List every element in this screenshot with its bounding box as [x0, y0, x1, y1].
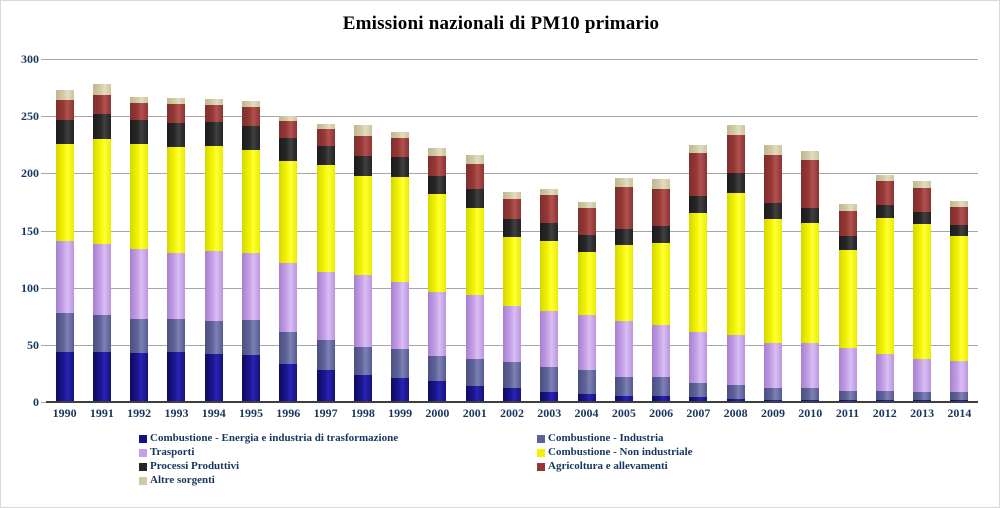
bar-segment[interactable] [56, 313, 74, 352]
bar-segment[interactable] [578, 252, 596, 315]
bar-slot-1999 [382, 59, 419, 402]
bar-segment[interactable] [466, 386, 484, 402]
bar-segment[interactable] [466, 189, 484, 207]
legend-swatch-icon [139, 477, 147, 485]
bar-slot-1993 [158, 59, 195, 402]
bar-slot-2008 [717, 59, 754, 402]
bar-segment[interactable] [689, 332, 707, 382]
bar-segment[interactable] [913, 392, 931, 400]
bar-segment[interactable] [727, 335, 745, 385]
x-tick-label-2002: 2002 [493, 406, 530, 421]
x-tick-label-1991: 1991 [83, 406, 120, 421]
bar-segment[interactable] [317, 146, 335, 165]
bar-segment[interactable] [652, 189, 670, 226]
bar-segment[interactable] [615, 245, 633, 320]
bar-segment[interactable] [839, 250, 857, 348]
bar-2003[interactable] [540, 189, 558, 402]
bar-segment[interactable] [950, 361, 968, 392]
legend-item[interactable]: Altre sorgenti [139, 475, 215, 486]
bar-segment[interactable] [689, 213, 707, 332]
bar-slot-2009 [754, 59, 791, 402]
bar-segment[interactable] [354, 347, 372, 374]
bar-segment[interactable] [279, 364, 297, 402]
bar-segment[interactable] [56, 90, 74, 100]
x-tick-label-2011: 2011 [829, 406, 866, 421]
bar-segment[interactable] [839, 348, 857, 390]
bar-segment[interactable] [56, 120, 74, 144]
bar-segment[interactable] [242, 320, 260, 355]
bar-segment[interactable] [801, 343, 819, 389]
bar-segment[interactable] [56, 100, 74, 119]
x-tick-label-1996: 1996 [270, 406, 307, 421]
bar-2002[interactable] [503, 192, 521, 402]
bar-segment[interactable] [167, 123, 185, 147]
bar-1993[interactable] [167, 98, 185, 402]
bar-segment[interactable] [130, 103, 148, 120]
x-tick-label-2009: 2009 [754, 406, 791, 421]
bar-segment[interactable] [93, 114, 111, 139]
x-tick-label-1990: 1990 [46, 406, 83, 421]
bar-segment[interactable] [764, 203, 782, 219]
bar-segment[interactable] [466, 155, 484, 164]
bar-segment[interactable] [205, 105, 223, 122]
x-tick-label-2004: 2004 [568, 406, 605, 421]
bar-segment[interactable] [503, 362, 521, 388]
bar-segment[interactable] [466, 295, 484, 359]
bar-slot-2006 [642, 59, 679, 402]
bar-segment[interactable] [279, 121, 297, 138]
bar-segment[interactable] [839, 236, 857, 250]
bar-slot-1997 [307, 59, 344, 402]
y-tick-label-200: 200 [5, 166, 39, 181]
x-tick-label-1999: 1999 [382, 406, 419, 421]
legend-item[interactable]: Combustione - Non industriale [537, 447, 693, 458]
bar-segment[interactable] [466, 164, 484, 189]
bar-segment[interactable] [764, 145, 782, 155]
bar-segment[interactable] [876, 218, 894, 354]
bar-slot-2005 [605, 59, 642, 402]
bar-segment[interactable] [801, 208, 819, 223]
bar-segment[interactable] [130, 144, 148, 249]
bar-segment[interactable] [428, 148, 446, 156]
bar-segment[interactable] [93, 352, 111, 402]
legend-swatch-icon [139, 463, 147, 471]
legend-label: Combustione - Energia e industria di tra… [150, 433, 398, 444]
bar-slot-2007 [680, 59, 717, 402]
x-tick-label-1997: 1997 [307, 406, 344, 421]
bar-1995[interactable] [242, 101, 260, 402]
bar-2008[interactable] [727, 125, 745, 402]
bar-segment[interactable] [391, 138, 409, 157]
bar-slot-2001 [456, 59, 493, 402]
bar-segment[interactable] [317, 370, 335, 402]
bar-segment[interactable] [391, 349, 409, 378]
bar-segment[interactable] [615, 187, 633, 229]
bar-slot-1998 [344, 59, 381, 402]
bar-segment[interactable] [503, 192, 521, 199]
bar-slot-2004 [568, 59, 605, 402]
bar-segment[interactable] [354, 275, 372, 347]
bar-segment[interactable] [615, 229, 633, 245]
bar-segment[interactable] [167, 352, 185, 402]
bar-segment[interactable] [578, 315, 596, 370]
bar-segment[interactable] [913, 212, 931, 223]
bar-segment[interactable] [950, 225, 968, 236]
bar-segment[interactable] [391, 177, 409, 282]
legend-label: Combustione - Non industriale [548, 447, 693, 458]
bar-segment[interactable] [578, 235, 596, 252]
bar-segment[interactable] [503, 219, 521, 237]
x-tick-label-2005: 2005 [605, 406, 642, 421]
bar-2010[interactable] [801, 151, 819, 402]
bar-segment[interactable] [652, 179, 670, 189]
bar-segment[interactable] [205, 251, 223, 321]
legend-item[interactable]: Agricoltura e allevamenti [537, 461, 668, 472]
bar-segment[interactable] [242, 150, 260, 253]
bar-segment[interactable] [839, 391, 857, 400]
y-tick-label-300: 300 [5, 52, 39, 67]
bar-segment[interactable] [876, 354, 894, 391]
legend-label: Processi Produttivi [150, 461, 239, 472]
bar-segment[interactable] [652, 226, 670, 243]
x-tick-label-2012: 2012 [866, 406, 903, 421]
y-tick-label-50: 50 [5, 338, 39, 353]
bar-segment[interactable] [130, 120, 148, 144]
bar-segment[interactable] [540, 367, 558, 392]
bar-segment[interactable] [354, 375, 372, 402]
x-tick-label-2013: 2013 [903, 406, 940, 421]
legend-label: Altre sorgenti [150, 475, 215, 486]
bar-1994[interactable] [205, 99, 223, 402]
bar-slot-2013 [903, 59, 940, 402]
bar-2004[interactable] [578, 202, 596, 402]
bar-segment[interactable] [279, 332, 297, 364]
bar-segment[interactable] [876, 181, 894, 205]
bar-segment[interactable] [727, 135, 745, 174]
legend-label: Trasporti [150, 447, 194, 458]
bar-segment[interactable] [167, 147, 185, 253]
bar-segment[interactable] [652, 377, 670, 396]
y-tick-label-0: 0 [5, 395, 39, 410]
bar-segment[interactable] [503, 199, 521, 220]
bar-segment[interactable] [317, 272, 335, 341]
bar-segment[interactable] [615, 321, 633, 377]
x-tick-label-2006: 2006 [642, 406, 679, 421]
bar-segment[interactable] [242, 107, 260, 126]
bar-2006[interactable] [652, 179, 670, 402]
x-tick-label-1995: 1995 [232, 406, 269, 421]
bar-segment[interactable] [205, 321, 223, 354]
bar-segment[interactable] [950, 236, 968, 361]
bar-slot-1995 [232, 59, 269, 402]
bar-segment[interactable] [428, 292, 446, 356]
bar-segment[interactable] [205, 146, 223, 251]
bar-segment[interactable] [801, 223, 819, 343]
bar-segment[interactable] [540, 223, 558, 241]
plot-area [46, 59, 978, 402]
y-tick-label-150: 150 [5, 224, 39, 239]
bar-segment[interactable] [727, 173, 745, 192]
bar-segment[interactable] [801, 160, 819, 208]
chart-title: Emissioni nazionali di PM10 primario [1, 13, 1000, 35]
bar-segment[interactable] [727, 385, 745, 399]
bar-segment[interactable] [317, 340, 335, 370]
x-tick-label-2010: 2010 [792, 406, 829, 421]
bar-slot-1992 [121, 59, 158, 402]
bar-segment[interactable] [652, 243, 670, 325]
bar-segment[interactable] [764, 219, 782, 342]
bar-segment[interactable] [93, 139, 111, 244]
bar-2001[interactable] [466, 155, 484, 402]
chart-legend: Combustione - Energia e industria di tra… [139, 433, 839, 491]
bar-2007[interactable] [689, 145, 707, 402]
x-tick-label-1993: 1993 [158, 406, 195, 421]
bar-2000[interactable] [428, 148, 446, 402]
bar-segment[interactable] [354, 156, 372, 175]
bar-segment[interactable] [503, 388, 521, 402]
bar-slot-1990 [46, 59, 83, 402]
bar-segment[interactable] [130, 319, 148, 353]
bar-segment[interactable] [428, 381, 446, 402]
legend-swatch-icon [139, 449, 147, 457]
bar-1999[interactable] [391, 132, 409, 402]
bar-segment[interactable] [689, 153, 707, 196]
x-tick-label-2003: 2003 [531, 406, 568, 421]
x-tick-label-2007: 2007 [680, 406, 717, 421]
x-tick-label-2000: 2000 [419, 406, 456, 421]
bar-segment[interactable] [391, 157, 409, 176]
bar-segment[interactable] [279, 161, 297, 263]
bar-segment[interactable] [689, 145, 707, 153]
bar-segment[interactable] [540, 195, 558, 222]
bar-segment[interactable] [56, 352, 74, 402]
x-tick-label-1992: 1992 [121, 406, 158, 421]
bar-segment[interactable] [801, 151, 819, 160]
bar-2011[interactable] [839, 204, 857, 402]
bar-slot-1996 [270, 59, 307, 402]
legend-swatch-icon [537, 449, 545, 457]
x-tick-label-1998: 1998 [344, 406, 381, 421]
bar-segment[interactable] [950, 392, 968, 400]
bar-1998[interactable] [354, 125, 372, 402]
bar-segment[interactable] [428, 176, 446, 194]
bar-segment[interactable] [764, 343, 782, 389]
bar-2005[interactable] [615, 178, 633, 402]
legend-swatch-icon [537, 463, 545, 471]
x-tick-label-2001: 2001 [456, 406, 493, 421]
bar-segment[interactable] [913, 188, 931, 212]
bar-segment[interactable] [578, 370, 596, 394]
bar-segment[interactable] [876, 391, 894, 400]
legend-swatch-icon [139, 435, 147, 443]
bar-segment[interactable] [205, 122, 223, 146]
bar-segment[interactable] [428, 156, 446, 175]
bar-segment[interactable] [689, 196, 707, 213]
bar-segment[interactable] [764, 388, 782, 399]
bar-slot-2002 [493, 59, 530, 402]
bar-segment[interactable] [167, 104, 185, 123]
bar-segment[interactable] [130, 353, 148, 402]
x-tick-label-1994: 1994 [195, 406, 232, 421]
bar-segment[interactable] [578, 208, 596, 235]
bar-segment[interactable] [503, 237, 521, 306]
bar-segment[interactable] [801, 388, 819, 399]
bar-segment[interactable] [56, 144, 74, 241]
bar-segment[interactable] [876, 175, 894, 182]
bar-slot-2012 [866, 59, 903, 402]
bar-segment[interactable] [56, 241, 74, 313]
bar-segment[interactable] [913, 181, 931, 188]
legend-item[interactable]: Processi Produttivi [139, 461, 239, 472]
bar-segment[interactable] [279, 263, 297, 333]
bar-segment[interactable] [428, 194, 446, 292]
legend-item[interactable]: Trasporti [139, 447, 194, 458]
bar-segment[interactable] [130, 249, 148, 319]
bar-slot-1991 [83, 59, 120, 402]
bar-segment[interactable] [428, 356, 446, 381]
bar-segment[interactable] [167, 319, 185, 352]
bar-segment[interactable] [279, 138, 297, 161]
bar-slot-2014 [941, 59, 978, 402]
bar-segment[interactable] [540, 311, 558, 367]
bar-segment[interactable] [354, 136, 372, 157]
y-tick-label-100: 100 [5, 281, 39, 296]
bar-slot-2011 [829, 59, 866, 402]
bar-segment[interactable] [615, 178, 633, 187]
bar-segment[interactable] [839, 204, 857, 211]
y-tick-label-250: 250 [5, 109, 39, 124]
bar-segment[interactable] [466, 208, 484, 295]
bar-1992[interactable] [130, 97, 148, 402]
bar-segment[interactable] [764, 155, 782, 203]
bar-segment[interactable] [950, 207, 968, 225]
bar-segment[interactable] [93, 244, 111, 315]
x-axis-tick-labels: 1990199119921993199419951996199719981999… [46, 402, 978, 424]
bar-segment[interactable] [167, 253, 185, 318]
bar-1990[interactable] [56, 90, 74, 402]
legend-swatch-icon [537, 435, 545, 443]
bar-slot-2000 [419, 59, 456, 402]
bar-segment[interactable] [317, 129, 335, 146]
bar-segment[interactable] [242, 355, 260, 402]
bar-segment[interactable] [354, 176, 372, 275]
bar-segment[interactable] [540, 241, 558, 311]
bar-segment[interactable] [93, 95, 111, 114]
bar-segment[interactable] [391, 378, 409, 402]
bar-2014[interactable] [950, 201, 968, 402]
bar-1991[interactable] [93, 84, 111, 402]
bar-segment[interactable] [242, 126, 260, 150]
bar-segment[interactable] [503, 306, 521, 362]
x-tick-label-2014: 2014 [941, 406, 978, 421]
bar-segment[interactable] [839, 211, 857, 236]
legend-label: Agricoltura e allevamenti [548, 461, 668, 472]
bar-segment[interactable] [205, 354, 223, 402]
bar-segment[interactable] [727, 193, 745, 335]
bar-segment[interactable] [913, 359, 931, 392]
bar-segment[interactable] [466, 359, 484, 386]
chart-container: Emissioni nazionali di PM10 primario 050… [0, 0, 1000, 508]
bar-segment[interactable] [93, 84, 111, 94]
bar-segment[interactable] [689, 383, 707, 398]
legend-item[interactable]: Combustione - Industria [537, 433, 664, 444]
bar-segment[interactable] [913, 224, 931, 359]
bar-2012[interactable] [876, 175, 894, 402]
bar-segment[interactable] [354, 125, 372, 135]
bar-1996[interactable] [279, 116, 297, 402]
bar-segment[interactable] [727, 125, 745, 134]
bar-segment[interactable] [652, 325, 670, 376]
bar-1997[interactable] [317, 124, 335, 402]
bar-2009[interactable] [764, 145, 782, 402]
legend-item[interactable]: Combustione - Energia e industria di tra… [139, 433, 398, 444]
legend-label: Combustione - Industria [548, 433, 664, 444]
bars-group [46, 59, 978, 402]
bar-segment[interactable] [615, 377, 633, 396]
bar-segment[interactable] [242, 253, 260, 319]
bar-segment[interactable] [391, 282, 409, 349]
bar-segment[interactable] [317, 165, 335, 271]
x-tick-label-2008: 2008 [717, 406, 754, 421]
bar-segment[interactable] [876, 205, 894, 218]
bar-2013[interactable] [913, 181, 931, 402]
bar-slot-1994 [195, 59, 232, 402]
bar-slot-2010 [792, 59, 829, 402]
bar-slot-2003 [531, 59, 568, 402]
bar-segment[interactable] [93, 315, 111, 352]
